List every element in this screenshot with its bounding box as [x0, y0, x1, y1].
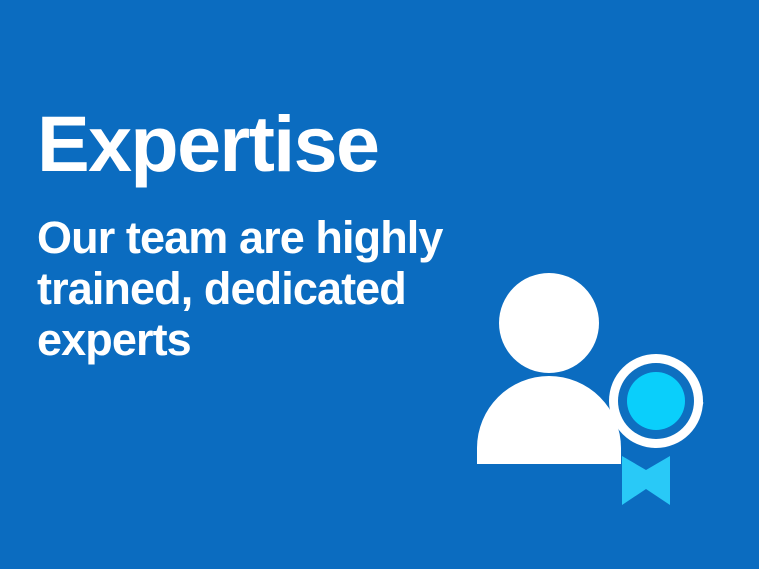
text-block: Expertise Our team are highly trained, d…: [37, 104, 467, 365]
person-silhouette-icon: [477, 273, 621, 464]
award-badge-icon: [609, 354, 703, 505]
slide-canvas: Expertise Our team are highly trained, d…: [0, 0, 759, 569]
page-title: Expertise: [37, 104, 467, 183]
certified-person-icon: [460, 258, 710, 518]
subtitle-text: Our team are highly trained, dedicated e…: [37, 183, 457, 365]
